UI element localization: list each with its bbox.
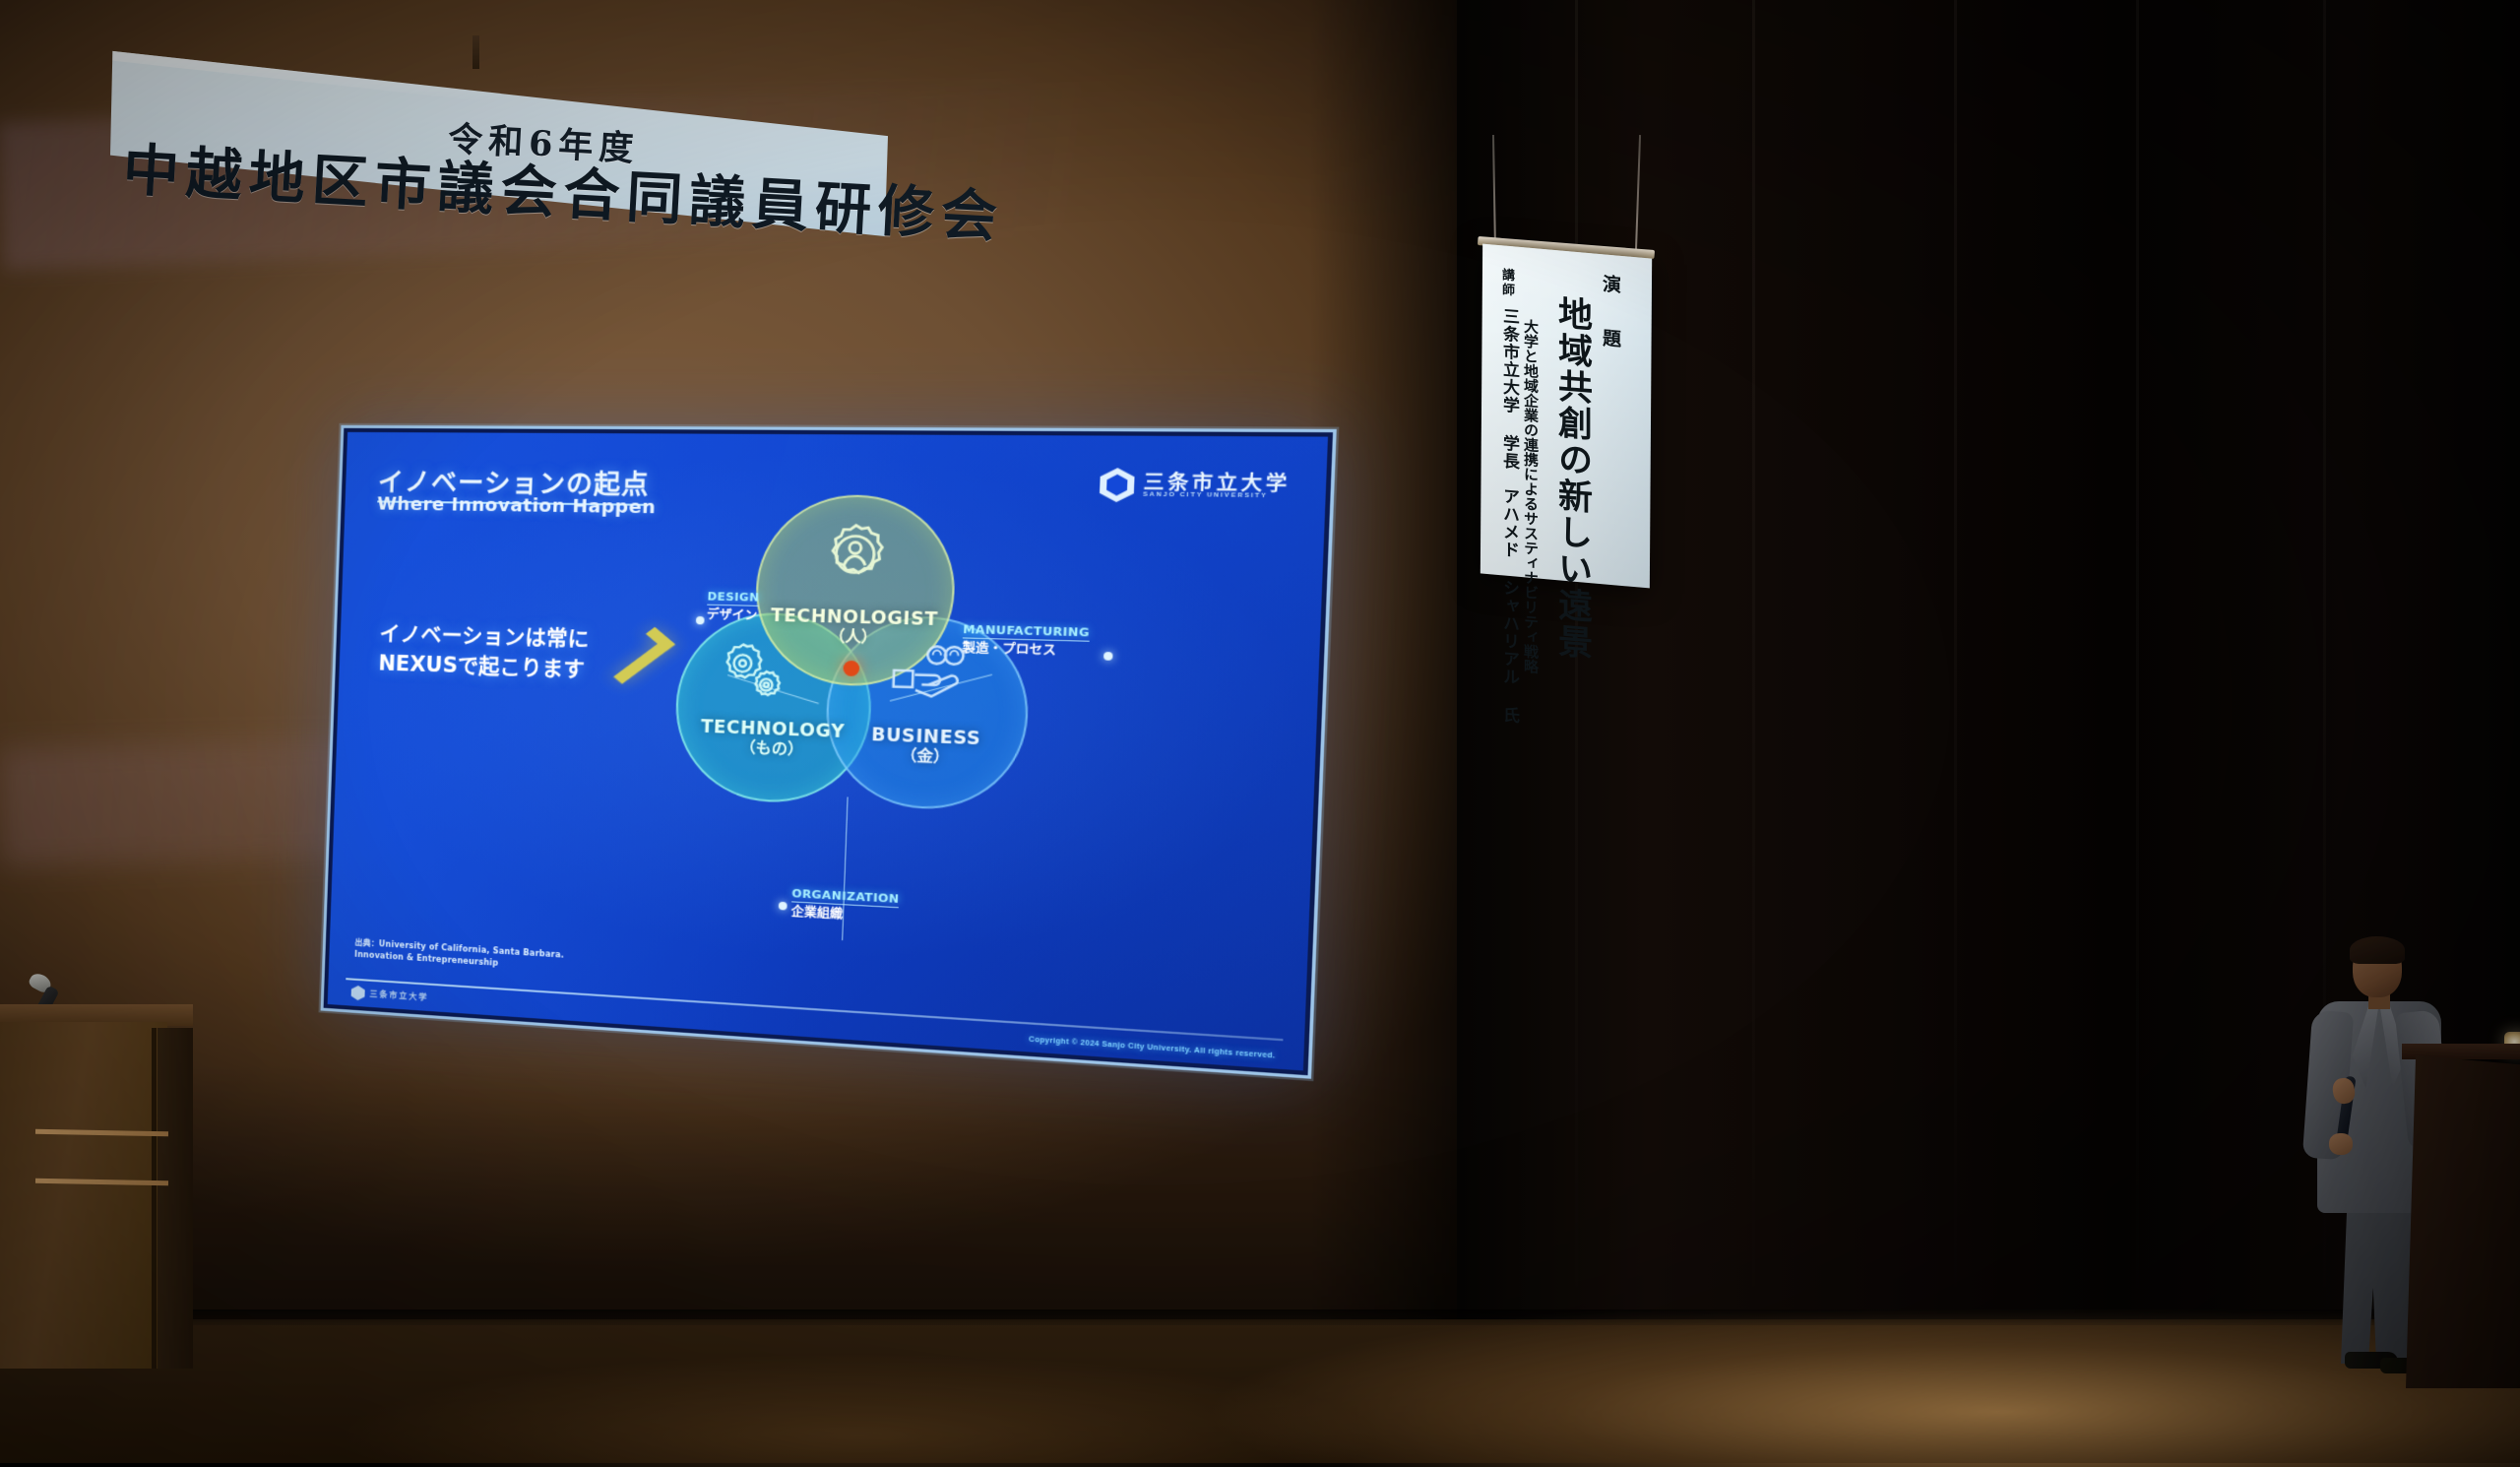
slide-title-en: Where Innovation Happen — [377, 493, 657, 518]
footer-logo-text: 三条市立大学 — [369, 989, 428, 1003]
lead-line-2: NEXUSで起こります — [378, 652, 585, 682]
banner-topic-title: 地域共創の新しい遠景 — [1547, 293, 1598, 662]
banner-topic-subtitle: 大学と地域企業の連携によるサスティナビリティ戦略 — [1521, 318, 1542, 674]
lead-line-1: イノベーションは常に — [379, 621, 590, 651]
wooden-lectern — [0, 1004, 193, 1369]
slide-footer-logo: 三条市立大学 — [351, 986, 429, 1005]
university-logo: 三条市立大学 SANJO CITY UNIVERSITY — [1100, 468, 1291, 504]
venn-label-technologist: TECHNOLOGIST （人） — [767, 606, 941, 649]
callout-dot-manufacturing — [1103, 652, 1113, 661]
hexagon-logo-small-icon — [351, 986, 365, 1001]
venn-diagram: TECHNOLOGIST （人） TECHNOLOGY （もの） BUSINES… — [631, 482, 1069, 933]
person-in-gear-icon — [818, 520, 892, 590]
lectern-side-panel — [157, 1028, 193, 1369]
banner-strings — [1481, 135, 1651, 253]
callout-design-en: DESIGN — [707, 590, 759, 605]
hand-with-money-icon — [890, 642, 967, 703]
slide-canvas: イノベーションの起点 Where Innovation Happen 三条市立大… — [328, 432, 1328, 1071]
stage-edge — [0, 1309, 2520, 1325]
callout-design: DESIGN デザイン — [707, 590, 760, 624]
callout-organization: ORGANIZATION 企業組織 — [790, 887, 899, 926]
gears-icon — [716, 639, 787, 703]
hanging-program-banner: 演 題 地域共創の新しい遠景 大学と地域企業の連携によるサスティナビリティ戦略 … — [1481, 251, 1651, 581]
logo-name-jp: 三条市立大学 — [1143, 472, 1291, 493]
projection-screen: イノベーションの起点 Where Innovation Happen 三条市立大… — [321, 425, 1337, 1079]
overhead-hall-banner: 令和6年度 中越地区市議会合同議員研修会 — [110, 43, 888, 236]
callout-manufacturing: MANUFACTURING 製造・プロセス — [962, 622, 1090, 660]
banner-speaker-label: 講師 — [1497, 267, 1516, 298]
wall-shadow-bottom — [0, 1063, 1536, 1339]
presenter-hair — [2350, 936, 2405, 964]
slide-lead-text: イノベーションは常に NEXUSで起こります — [378, 618, 631, 686]
banner-topic-label: 演 題 — [1598, 274, 1624, 355]
venn-label-business: BUSINESS （金） — [838, 724, 1015, 770]
lectern-body — [0, 1022, 167, 1369]
dark-podium — [2402, 1044, 2520, 1388]
lectern-seam — [152, 1028, 157, 1369]
stage-scene: 令和6年度 中越地区市議会合同議員研修会 演 題 地域共創の新しい遠景 大学と地… — [0, 0, 2520, 1463]
podium-body — [2406, 1055, 2520, 1388]
slide-source-citation: 出典：University of California, Santa Barba… — [354, 937, 564, 974]
stage-floor-lighting — [148, 1309, 2520, 1467]
banner-speaker-name: 三条市立大学 学長 アハメド シャハリアル 氏 — [1497, 306, 1522, 725]
callout-design-jp: デザイン — [707, 606, 760, 624]
hexagon-logo-icon — [1100, 468, 1135, 502]
callout-manufacturing-jp: 製造・プロセス — [962, 638, 1089, 660]
presenter-hand-lower — [2329, 1133, 2353, 1155]
